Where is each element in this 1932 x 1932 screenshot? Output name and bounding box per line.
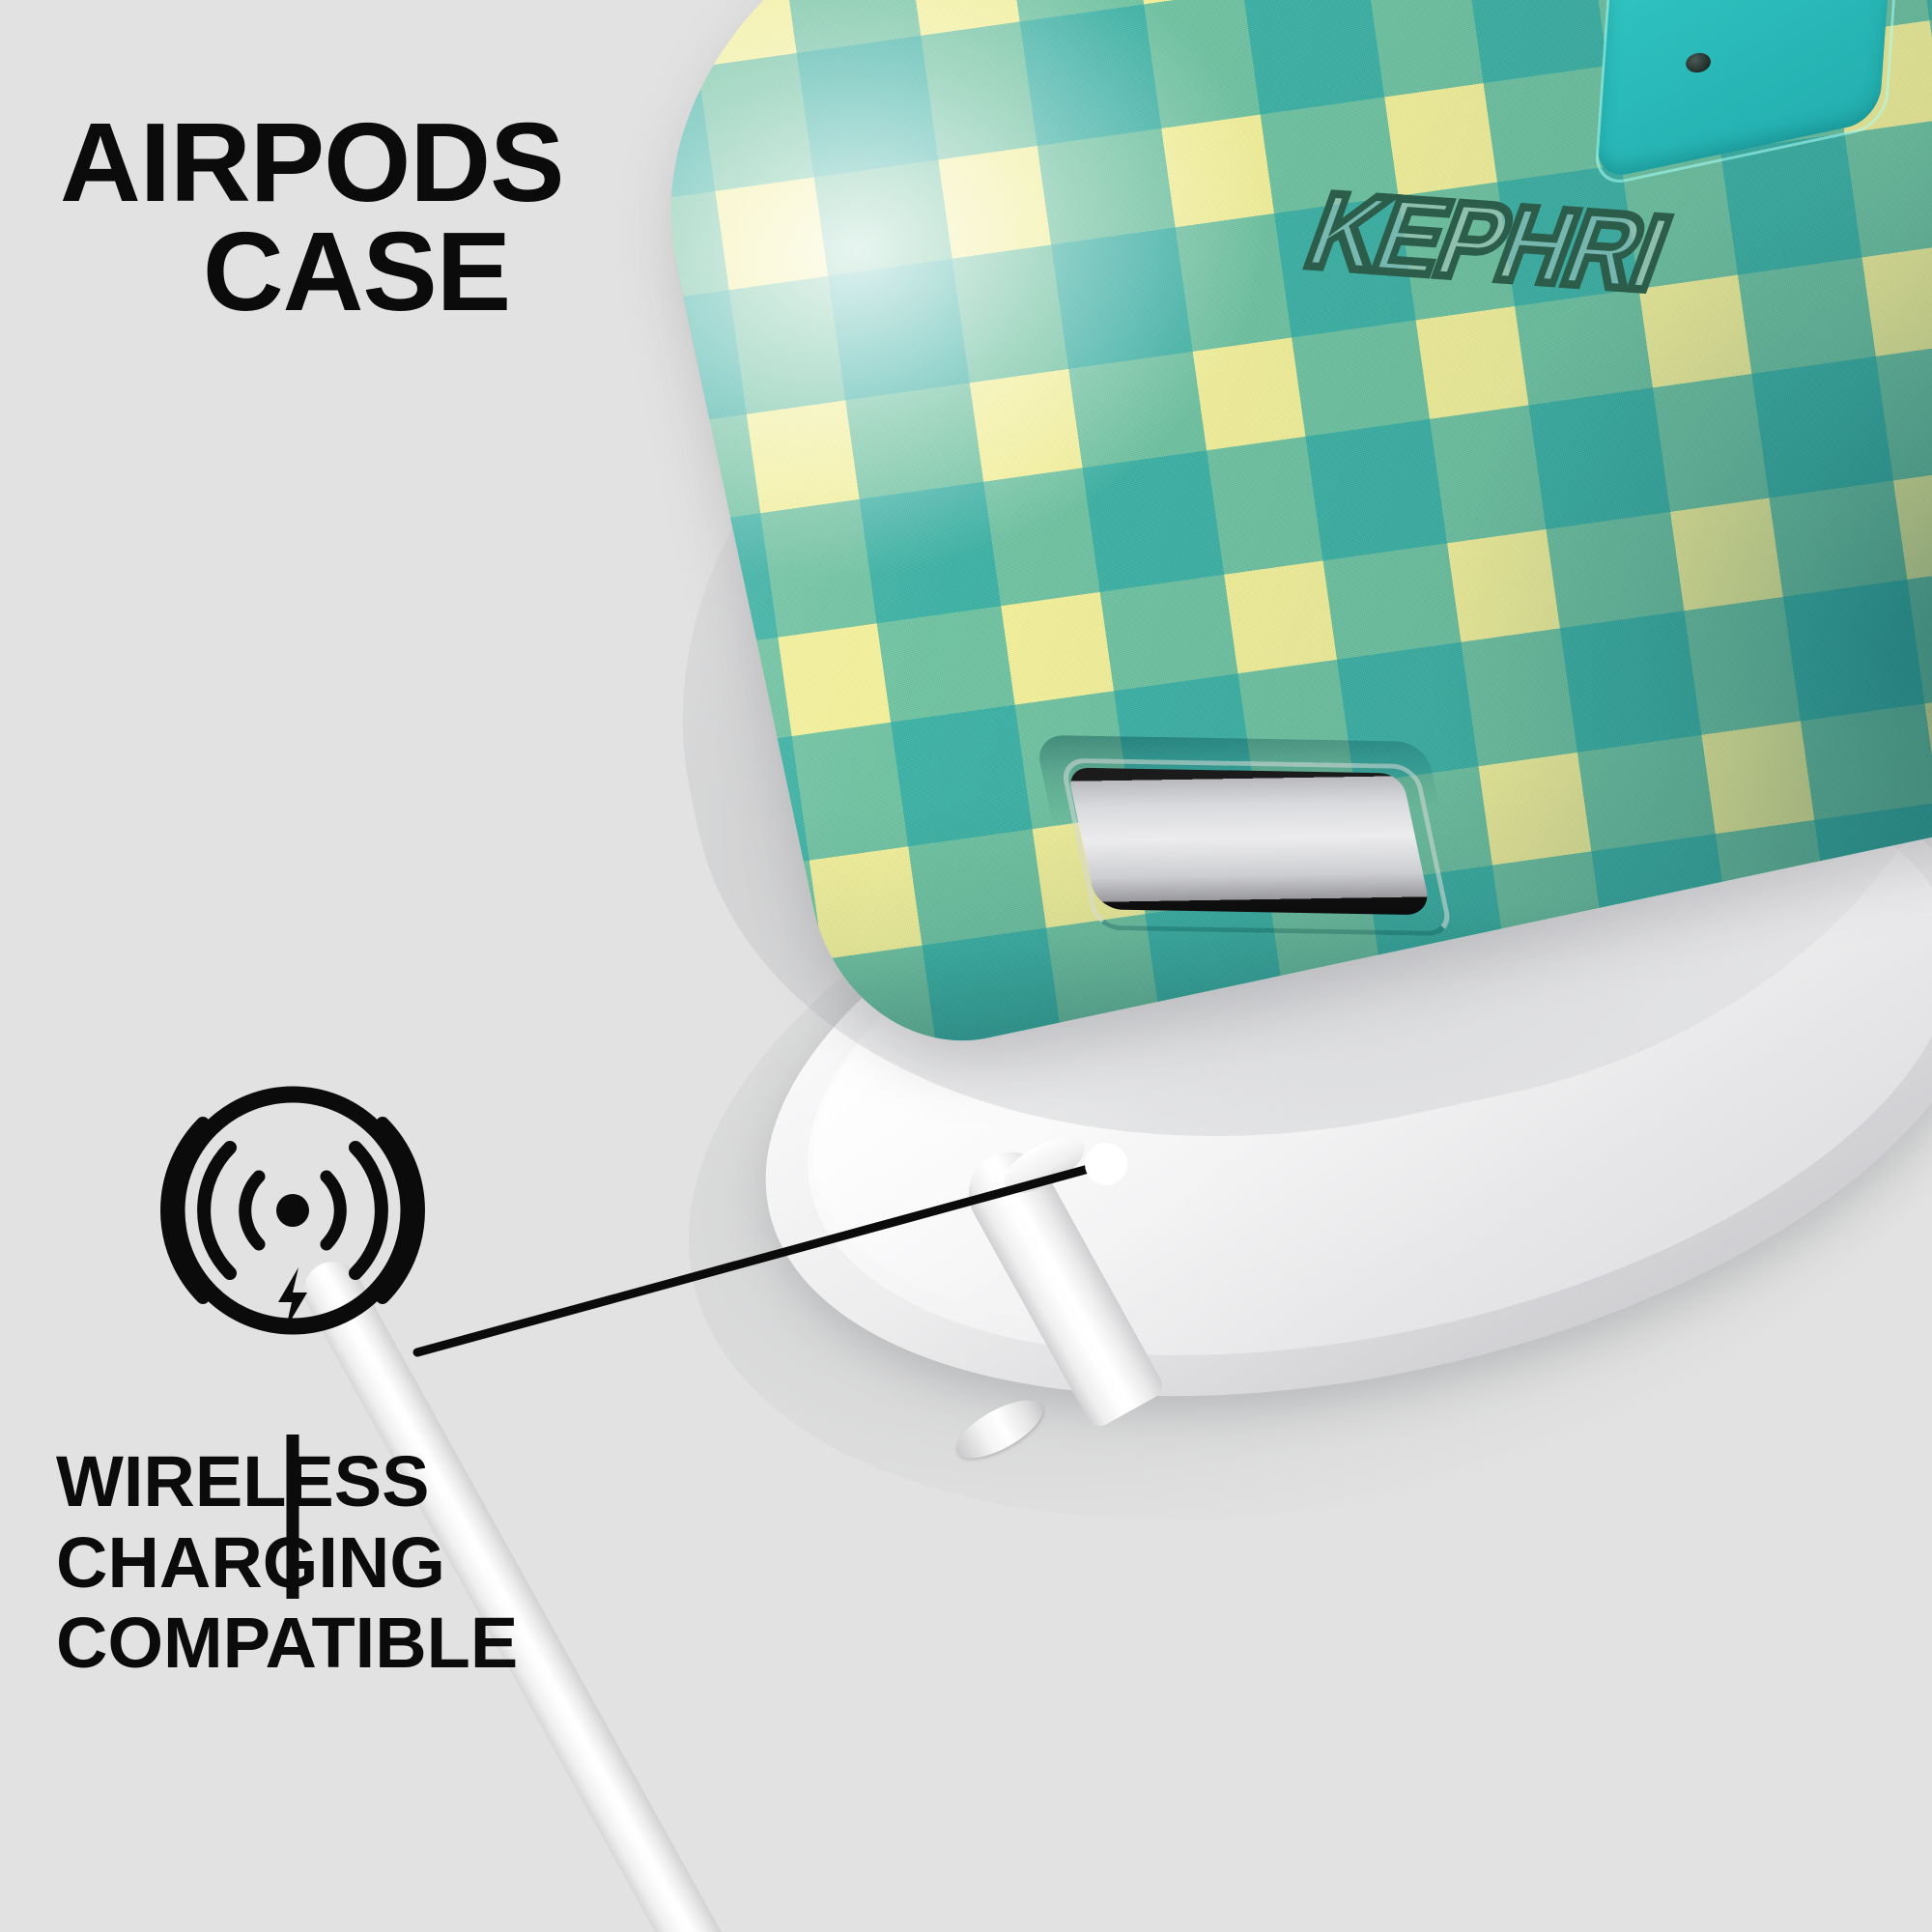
caption-line-3: COMPATIBLE: [56, 1603, 518, 1684]
caption-line-1: WIRELESS: [56, 1441, 518, 1522]
product-callout-image: AIRPODS CASE KEPHRI: [0, 0, 1932, 1932]
callout-leader-line: [417, 1164, 1106, 1352]
callout-endpoint-dot: [1085, 1143, 1127, 1185]
callout-caption: WIRELESS CHARGING COMPATIBLE: [56, 1441, 518, 1684]
caption-line-2: CHARGING: [56, 1522, 518, 1604]
wireless-charging-icon: [167, 1094, 418, 1328]
